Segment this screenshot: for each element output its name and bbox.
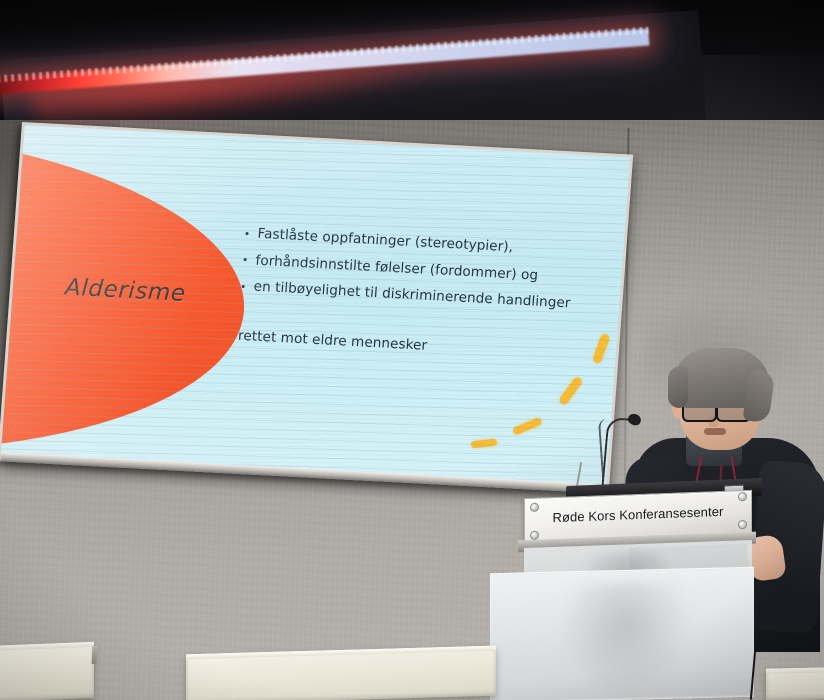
bullet-text: Fastlåste oppfatninger (stereotypier), [257,226,514,256]
audience-chair-back [0,642,94,700]
chair-leg [92,646,98,664]
audience-chair-back [766,667,824,700]
presentation-slide: Alderisme Fastlåste oppfatninger (stereo… [1,125,630,484]
bullet-dot-icon [245,232,248,235]
accent-dash-icon [558,376,583,406]
projection-screen: Alderisme Fastlåste oppfatninger (stereo… [0,122,633,494]
presenter-mouth [704,428,726,435]
lectern: Røde Kors Konferansesenter [508,484,770,700]
presentation-photo-scene: Alderisme Fastlåste oppfatninger (stereo… [0,0,824,700]
chair-top-edge [766,667,824,674]
slide-tagline: rettet mot eldre mennesker [238,328,428,354]
accent-dash-icon [512,417,543,436]
sign-screw-icon [738,492,747,501]
slide-bullet-list: Fastlåste oppfatninger (stereotypier), f… [240,225,595,323]
accent-dash-icon [592,333,611,364]
venue-sign-label: Røde Kors Konferansesenter [525,503,751,526]
accent-dash-icon [471,439,498,449]
bullet-text: forhåndsinnstilte følelser (fordommer) o… [255,252,539,283]
lectern-front-panel [490,569,754,700]
presenter-hair-left [668,366,688,408]
bullet-dot-icon [242,284,245,287]
audience-chair-back [186,646,496,700]
lectern-front-shadow [560,580,690,700]
sign-screw-icon [530,531,539,540]
microphone-gooseneck-shadow [598,417,622,480]
sign-screw-icon [738,520,747,529]
bullet-dot-icon [244,258,247,261]
